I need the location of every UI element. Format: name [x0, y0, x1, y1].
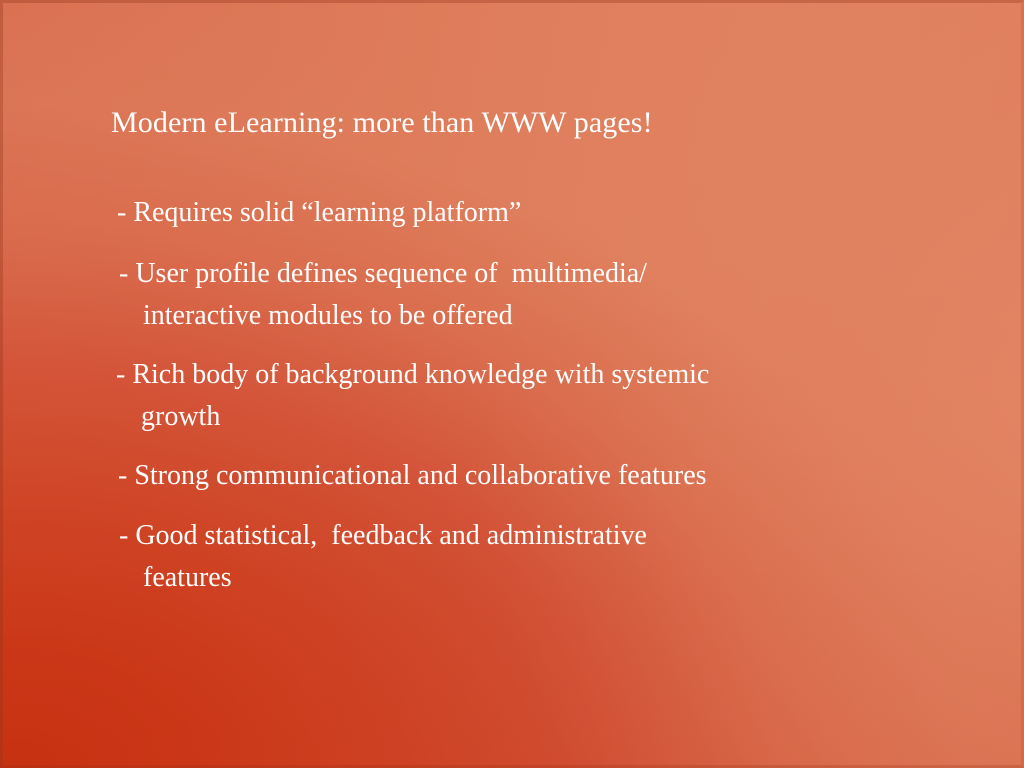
bullet-list: - Requires solid “learning platform” - U…	[0, 192, 1024, 599]
bullet-item: - Requires solid “learning platform”	[0, 192, 1024, 234]
bullet-line: - Requires solid “learning platform”	[0, 192, 1024, 234]
bullet-line: - User profile defines sequence of multi…	[0, 253, 1024, 295]
bullet-line: - Good statistical, feedback and adminis…	[0, 515, 1024, 557]
bullet-line: - Strong communicational and collaborati…	[0, 455, 1024, 497]
bullet-line-continuation: growth	[0, 396, 1024, 438]
bullet-item: - User profile defines sequence of multi…	[0, 253, 1024, 337]
bullet-line: - Rich body of background knowledge with…	[0, 354, 1024, 396]
slide-title: Modern eLearning: more than WWW pages!	[111, 103, 653, 143]
bullet-line-continuation: interactive modules to be offered	[0, 295, 1024, 337]
bullet-item: - Rich body of background knowledge with…	[0, 354, 1024, 438]
bullet-item: - Strong communicational and collaborati…	[0, 455, 1024, 497]
bullet-item: - Good statistical, feedback and adminis…	[0, 515, 1024, 599]
slide-content: Modern eLearning: more than WWW pages! -…	[0, 0, 1024, 768]
presentation-slide: Modern eLearning: more than WWW pages! -…	[0, 0, 1024, 768]
bullet-line-continuation: features	[0, 557, 1024, 599]
